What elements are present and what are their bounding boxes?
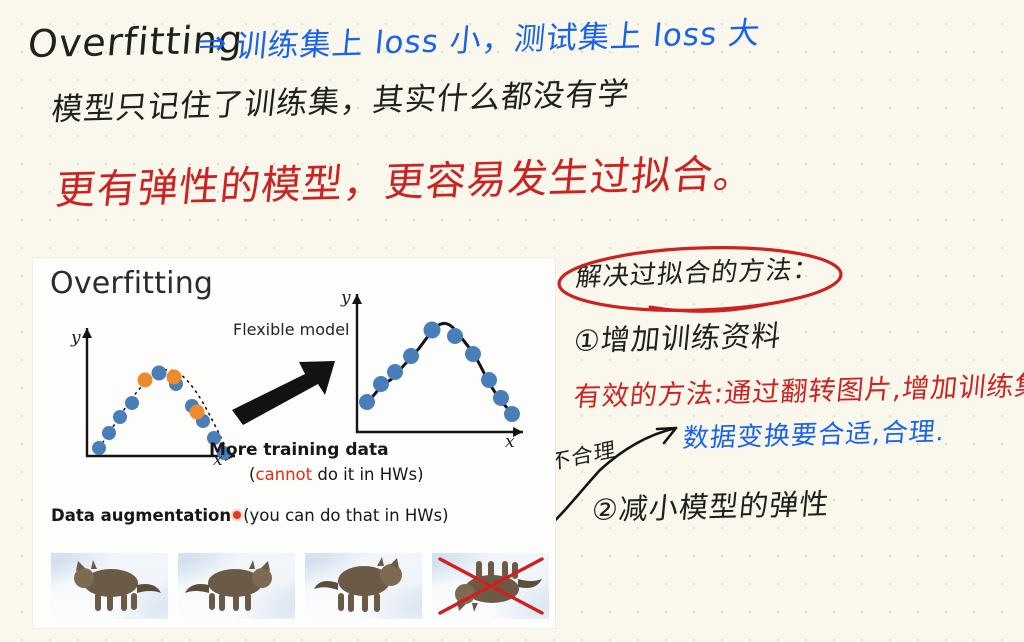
note-unreasonable: 不合理 (548, 434, 616, 477)
data-augmentation-bold: Data augmentation (51, 506, 231, 525)
data-augmentation-rest: (you can do that in HWs) (243, 506, 449, 525)
cat-silhouette-1 (51, 553, 168, 619)
cat-image-3 (305, 553, 422, 619)
cat-silhouette-2 (178, 553, 295, 619)
cat-image-2 (178, 553, 295, 619)
red-bullet-icon (233, 511, 241, 519)
note-item-1: ①增加训练资料 (572, 313, 784, 360)
cat-image-1 (51, 553, 168, 619)
note-heading-solutions: 解决过拟合的方法： (574, 249, 822, 294)
right-plot-svg (333, 280, 533, 460)
right-plot-x-label: x (505, 432, 515, 452)
red-cross-out-icon (432, 553, 549, 619)
lecture-slide-image: Overfitting (33, 258, 555, 628)
left-plot-y-label: y (71, 328, 81, 348)
slide-title: Overfitting (50, 266, 213, 301)
cat-image-4-rejected (432, 553, 549, 619)
note-item-2: ②减小模型的弹性 (590, 481, 832, 529)
notebook-page: Overfitting ⇒ 训练集上 loss 小，测试集上 loss 大 模型… (0, 0, 1024, 642)
note-item-1-blue: 数据变换要合适,合理. (681, 411, 947, 455)
note-line2: 模型只记住了训练集，其实什么都没有学 (49, 68, 632, 129)
cannot-word: cannot (255, 465, 312, 484)
note-line1-blue-text: 训练集上 loss 小，测试集上 loss 大 (234, 7, 763, 66)
right-plot-y-label: y (341, 288, 351, 308)
note-line3-red: 更有弹性的模型，更容易发生过拟合。 (53, 141, 758, 216)
cannot-do-in-hws-caption: (cannot do it in HWs) (249, 465, 424, 484)
note-line1-arrow: ⇒ (197, 23, 228, 64)
right-scatter-plot: y x (333, 280, 533, 460)
more-training-data-caption: More training data (209, 440, 389, 460)
note-item-1-red: 有效的方法:通过翻转图片,增加训练集. (572, 363, 1024, 414)
data-augmentation-caption: Data augmentation(you can do that in HWs… (51, 506, 449, 525)
cannot-suffix: do it in HWs) (312, 465, 423, 484)
cat-silhouette-3 (305, 553, 422, 619)
